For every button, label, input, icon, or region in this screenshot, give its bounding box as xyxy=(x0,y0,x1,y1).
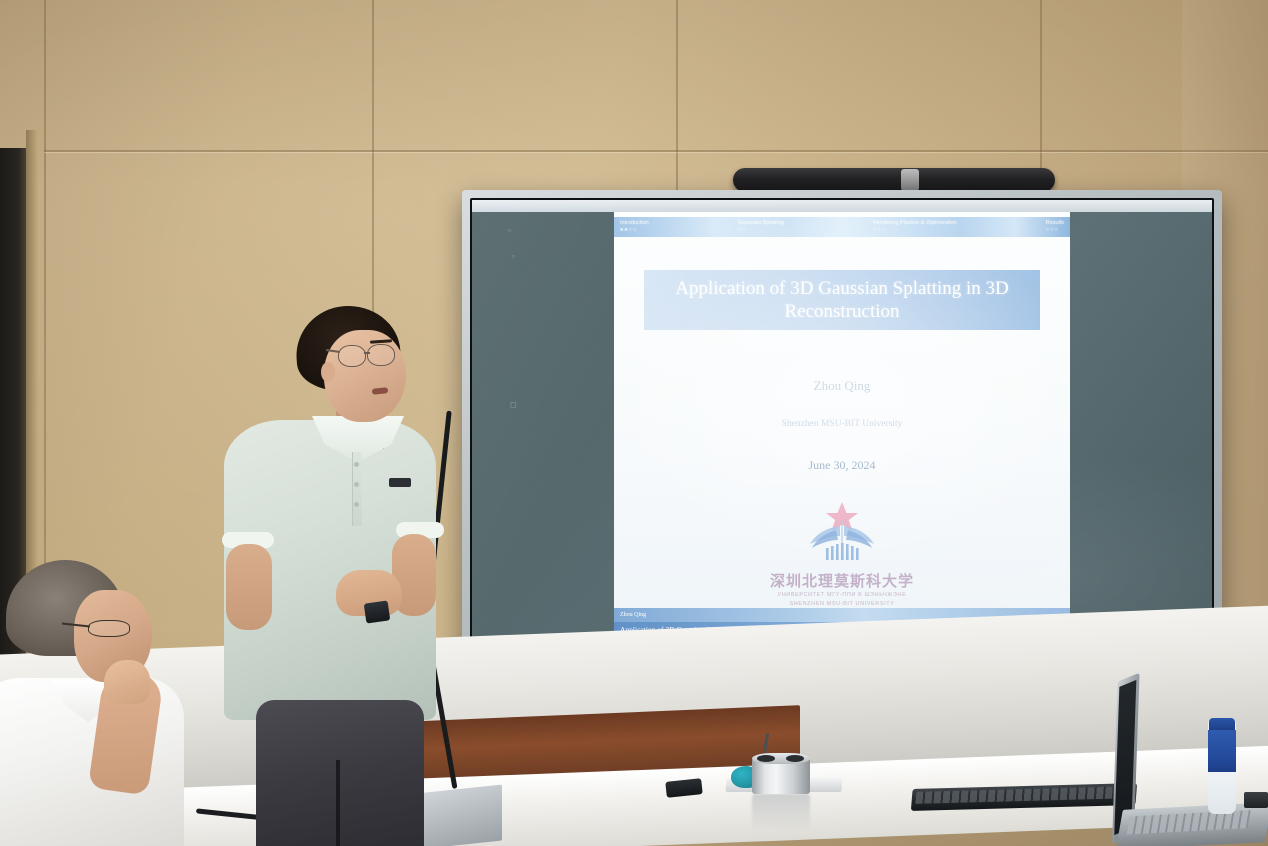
microphone-reflection xyxy=(752,794,810,830)
presenter-pants-seam xyxy=(336,760,340,846)
screen-corner-icon[interactable]: ▫ xyxy=(512,252,515,261)
bottle-blue-label-band xyxy=(1208,730,1236,772)
presentation-slide: Introduction ●●○○ Gaussian Splatting ○○ … xyxy=(614,212,1070,644)
display-bezel: ▫ ▫ ◻ Introduction ●●○○ Gaussian Splatti… xyxy=(470,198,1214,648)
slide-date: June 30, 2024 xyxy=(614,458,1070,473)
nav-section-dots: ●●○○ xyxy=(620,227,649,234)
logo-english-name: SHENZHEN MSU-BIT UNIVERSITY xyxy=(727,601,957,607)
slide-title-band: Application of 3D Gaussian Splatting in … xyxy=(644,270,1040,330)
desk-item[interactable] xyxy=(1244,792,1268,808)
nav-section-dots: ○○ xyxy=(738,227,784,234)
slide-author: Zhou Qing xyxy=(614,378,1070,394)
meeting-room-scene: ▫ ▫ ◻ Introduction ●●○○ Gaussian Splatti… xyxy=(0,0,1268,846)
laptop-keyboard[interactable] xyxy=(1127,810,1251,834)
slide-title: Application of 3D Gaussian Splatting in … xyxy=(657,277,1027,323)
logo-russian-name: УНИВЕРСИТЕТ МГУ-ППИ В ШЭНЬЧЖЭНЕ xyxy=(727,592,957,598)
laptop-base[interactable] xyxy=(1116,802,1268,846)
presenter-face xyxy=(324,330,406,422)
eyeglasses-bridge xyxy=(364,352,370,354)
nav-section-results[interactable]: Results ○○○ xyxy=(1040,220,1070,234)
nav-section-rendering-pipeline[interactable]: Rendering Pipeline & Optimization ○○○ xyxy=(867,220,963,234)
university-logo-mark xyxy=(782,500,902,566)
university-logo: 深圳北理莫斯科大学 УНИВЕРСИТЕТ МГУ-ППИ В ШЭНЬЧЖЭН… xyxy=(727,500,957,620)
eyeglasses-lens-right xyxy=(367,344,395,366)
nav-section-dots: ○○○ xyxy=(873,227,957,234)
bottle-blue-cap[interactable] xyxy=(1209,718,1235,730)
nav-section-label: Results xyxy=(1046,220,1064,227)
keyboard-keys xyxy=(915,786,1132,804)
presenter-ear xyxy=(321,362,335,382)
wall-seam-highlight xyxy=(44,152,1268,153)
soundbar-camera-bar xyxy=(733,168,1055,192)
logo-chinese-name: 深圳北理莫斯科大学 xyxy=(727,570,957,591)
microphone-capsule xyxy=(757,755,775,762)
shirt-button xyxy=(354,462,359,467)
shirt-chest-logo xyxy=(389,478,411,487)
display-panel[interactable]: ▫ ▫ ◻ Introduction ●●○○ Gaussian Splatti… xyxy=(462,190,1222,668)
nav-section-introduction[interactable]: Introduction ●●○○ xyxy=(614,220,655,234)
display-screen[interactable]: ▫ ▫ ◻ Introduction ●●○○ Gaussian Splatti… xyxy=(472,200,1212,646)
shirt-button xyxy=(354,482,359,487)
soundbar-band xyxy=(901,169,919,191)
footer-author: Zhou Qing xyxy=(620,612,646,618)
attendee-hand xyxy=(104,660,150,704)
nav-section-gaussian-splatting[interactable]: Gaussian Splatting ○○ xyxy=(732,220,790,234)
presentation-clicker[interactable] xyxy=(364,600,391,623)
screen-top-strip xyxy=(472,200,1212,212)
screen-side-icon[interactable]: ◻ xyxy=(510,400,517,409)
nav-section-label: Gaussian Splatting xyxy=(738,220,784,227)
nav-section-label: Introduction xyxy=(620,220,649,227)
screen-corner-icon[interactable]: ▫ xyxy=(508,226,511,235)
slide-affiliation: Shenzhen MSU-BIT University xyxy=(614,419,1070,429)
presenter-pants xyxy=(256,700,424,846)
microphone-capsule xyxy=(786,755,804,762)
nav-section-label: Rendering Pipeline & Optimization xyxy=(873,220,957,227)
presenter-arm-left xyxy=(226,544,272,630)
slide-nav-bar: Introduction ●●○○ Gaussian Splatting ○○ … xyxy=(614,217,1070,237)
eyeglasses-lens-left xyxy=(88,620,130,637)
eyeglasses-lens-left xyxy=(338,345,366,367)
nav-section-dots: ○○○ xyxy=(1046,227,1064,234)
shirt-button xyxy=(354,502,359,507)
